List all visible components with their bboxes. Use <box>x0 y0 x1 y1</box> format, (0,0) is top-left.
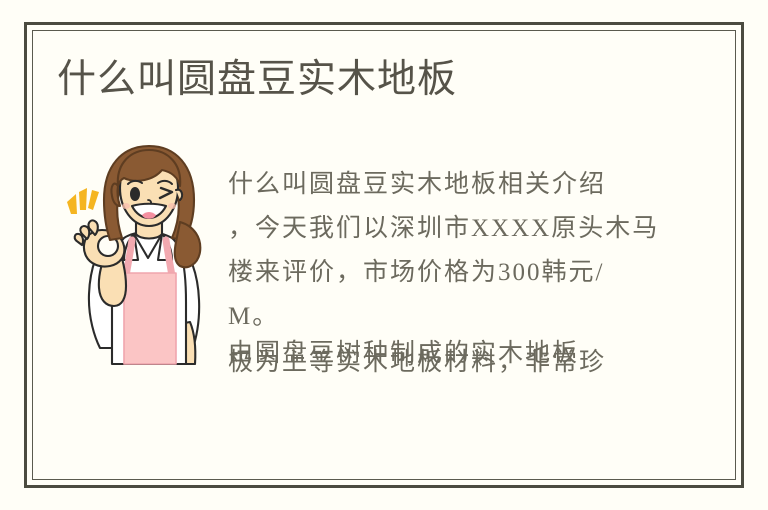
sparkle-icon <box>67 188 99 214</box>
article-card: 什么叫圆盘豆实木地板 <box>0 0 768 510</box>
page-title: 什么叫圆盘豆实木地板 <box>57 56 457 104</box>
woman-ok-gesture-illustration <box>62 142 214 370</box>
body-line: 什么叫圆盘豆实木地板相关介绍 <box>228 163 668 207</box>
article-body: 什么叫圆盘豆实木地板相关介绍 ，今天我们以深圳市XXXX原头木马 楼来评价，市场… <box>228 163 668 383</box>
body-line: M。 <box>228 295 668 339</box>
body-line-overlap-lower: 极为上等实木地板材料，非常珍 <box>228 346 606 380</box>
overlapping-body-lines: 由圆盘豆树种制成的实木地板 极为上等实木地板材料，非常珍 <box>228 341 668 383</box>
body-line: 楼来评价，市场价格为300韩元/ <box>228 251 668 295</box>
body-line: ，今天我们以深圳市XXXX原头木马 <box>228 207 668 251</box>
